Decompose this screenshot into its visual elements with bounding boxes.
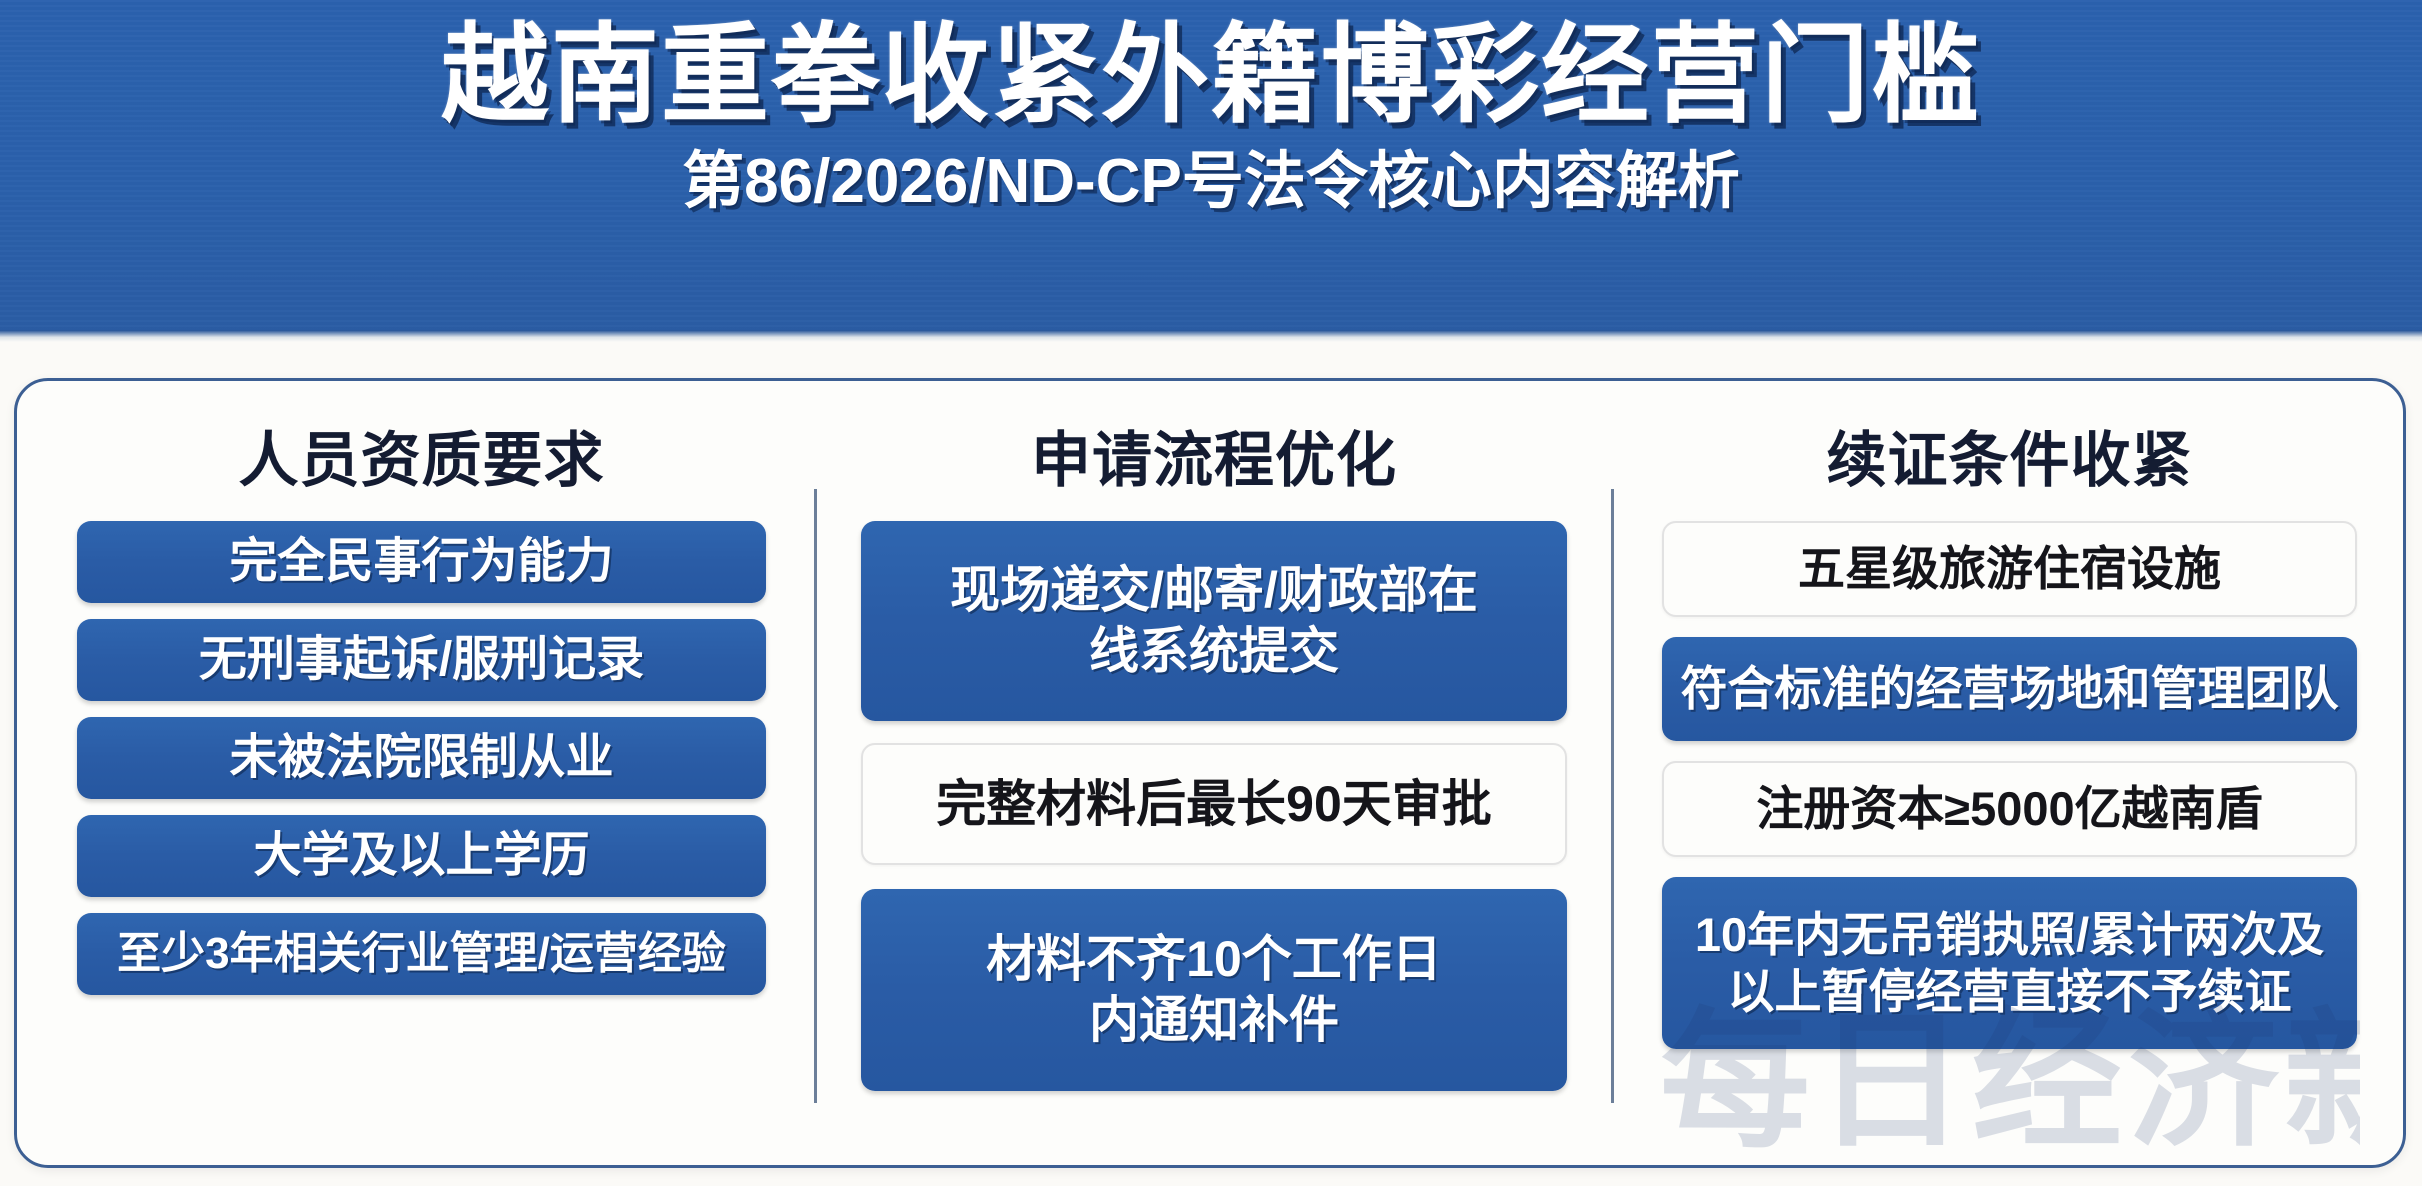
list-item[interactable]: 无刑事起诉/服刑记录 [77, 619, 766, 701]
header-banner: 越南重拳收紧外籍博彩经营门槛 第86/2026/ND-CP号法令核心内容解析 [0, 0, 2422, 341]
page-title: 越南重拳收紧外籍博彩经营门槛 [441, 18, 1981, 132]
column-heading-personnel-qualification: 人员资质要求 [239, 431, 605, 491]
list-item[interactable]: 未被法院限制从业 [77, 717, 766, 799]
list-item[interactable]: 大学及以上学历 [77, 815, 766, 897]
pill-stack-personnel-qualification: 完全民事行为能力 无刑事起诉/服刑记录 未被法院限制从业 大学及以上学历 至少3… [77, 521, 766, 995]
list-item[interactable]: 10年内无吊销执照/累计两次及 以上暂停经营直接不予续证 [1662, 877, 2357, 1049]
column-heading-application-process: 申请流程优化 [1031, 431, 1397, 491]
header-bottom-edge [0, 330, 2422, 342]
list-item[interactable]: 注册资本≥5000亿越南盾 [1662, 761, 2357, 857]
list-item[interactable]: 五星级旅游住宿设施 [1662, 521, 2357, 617]
column-application-process: 申请流程优化 现场递交/邮寄/财政部在 线系统提交 完整材料后最长90天审批 材… [817, 381, 1611, 1165]
list-item[interactable]: 材料不齐10个工作日 内通知补件 [861, 889, 1567, 1091]
pill-stack-application-process: 现场递交/邮寄/财政部在 线系统提交 完整材料后最长90天审批 材料不齐10个工… [861, 521, 1567, 1091]
list-item[interactable]: 完全民事行为能力 [77, 521, 766, 603]
column-heading-renewal-conditions: 续证条件收紧 [1827, 431, 2193, 491]
content-card: 人员资质要求 完全民事行为能力 无刑事起诉/服刑记录 未被法院限制从业 大学及以… [14, 378, 2406, 1168]
list-item[interactable]: 现场递交/邮寄/财政部在 线系统提交 [861, 521, 1567, 721]
pill-stack-renewal-conditions: 五星级旅游住宿设施 符合标准的经营场地和管理团队 注册资本≥5000亿越南盾 1… [1662, 521, 2357, 1049]
column-renewal-conditions: 续证条件收紧 五星级旅游住宿设施 符合标准的经营场地和管理团队 注册资本≥500… [1614, 381, 2403, 1165]
infographic-page: 越南重拳收紧外籍博彩经营门槛 第86/2026/ND-CP号法令核心内容解析 人… [0, 0, 2422, 1186]
list-item[interactable]: 完整材料后最长90天审批 [861, 743, 1567, 865]
page-subtitle: 第86/2026/ND-CP号法令核心内容解析 [682, 148, 1740, 216]
list-item[interactable]: 符合标准的经营场地和管理团队 [1662, 637, 2357, 741]
column-personnel-qualification: 人员资质要求 完全民事行为能力 无刑事起诉/服刑记录 未被法院限制从业 大学及以… [17, 381, 814, 1165]
list-item[interactable]: 至少3年相关行业管理/运营经验 [77, 913, 766, 995]
